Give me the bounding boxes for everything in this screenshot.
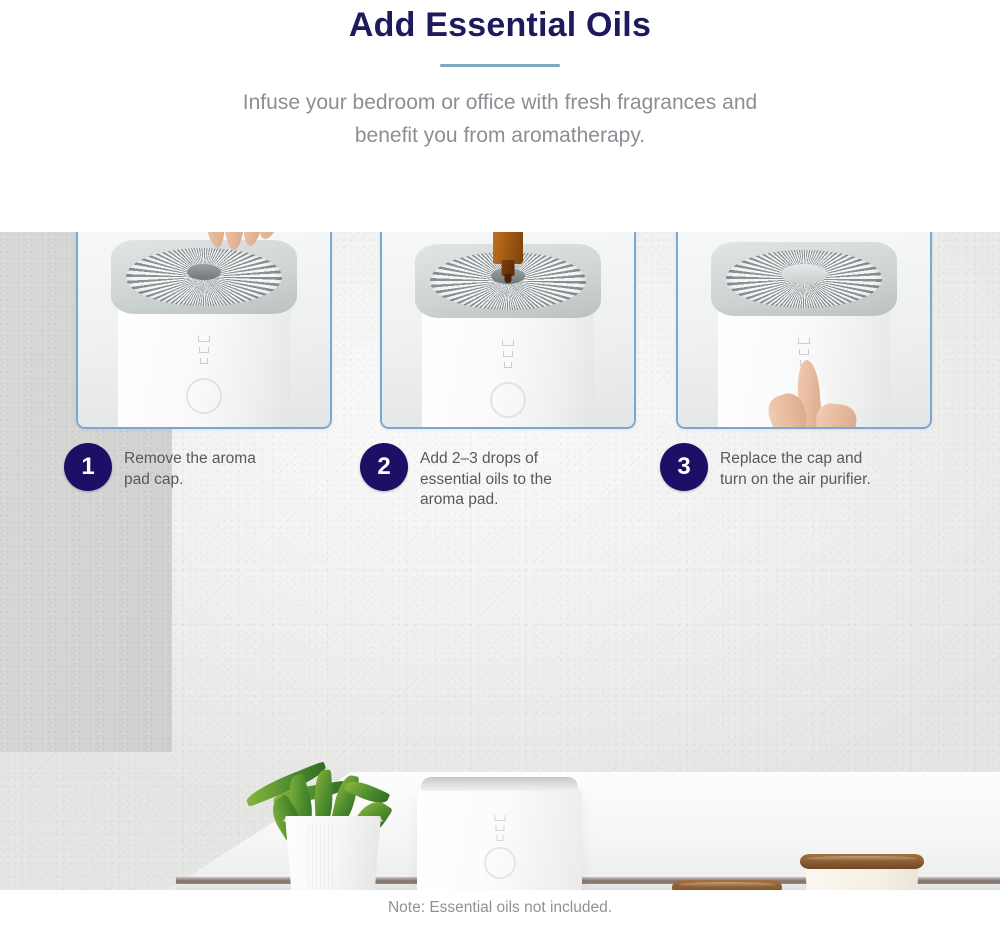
- page-title: Add Essential Oils: [0, 0, 1000, 45]
- step-2-power-button: [490, 382, 526, 418]
- ceramic-canister-cream: [800, 854, 924, 890]
- step-3-caption-text: Replace the cap and turn on the air puri…: [720, 443, 871, 490]
- step-3-fan-mark-1: [798, 338, 810, 344]
- step-3-hand: [762, 368, 882, 429]
- title-divider: [440, 64, 560, 67]
- subtitle-line-1: Infuse your bedroom or office with fresh…: [0, 87, 1000, 120]
- purifier-top-cap: [421, 777, 578, 791]
- infographic-page: levoit Add Essential Oils Infuse your be…: [0, 0, 1000, 925]
- step-3-caption: 3 Replace the cap and turn on the air pu…: [660, 443, 871, 491]
- air-purifier-hero: levoit: [417, 777, 582, 890]
- step-1-caption-text: Remove the aroma pad cap.: [124, 443, 256, 490]
- step-1-fan-mark-2: [199, 347, 209, 353]
- step-1-caption: 1 Remove the aroma pad cap.: [64, 443, 256, 491]
- step-3-aroma-pad-cap-closed: [781, 264, 827, 284]
- canister-cream-wooden-lid: [800, 854, 924, 869]
- fan-speed-mark-1: [494, 815, 505, 821]
- step-1-fan-mark-3: [200, 358, 208, 364]
- step-1-fan-indicators: [198, 336, 210, 364]
- footer-note: Note: Essential oils not included.: [388, 899, 612, 917]
- step-1-power-button: [186, 378, 222, 414]
- canister-grey-wooden-lid: [672, 880, 782, 890]
- step-2-fan-mark-3: [504, 362, 512, 368]
- ceramic-canister-grey: [672, 880, 782, 890]
- step-2-number-badge: 2: [360, 443, 408, 491]
- step-1-number-badge: 1: [64, 443, 112, 491]
- fan-speed-mark-3: [496, 835, 503, 841]
- step-2-caption: 2 Add 2–3 drops of essential oils to the…: [360, 443, 552, 511]
- step-2-fan-indicators: [502, 340, 514, 368]
- step-1-fan-mark-1: [198, 336, 210, 342]
- subtitle-line-2: benefit you from aromatherapy.: [0, 120, 1000, 153]
- step-3-top-cap: [711, 242, 897, 316]
- plant-pot-texture: [308, 824, 336, 890]
- fan-speed-indicators: [494, 815, 505, 841]
- header-block: Add Essential Oils Infuse your bedroom o…: [0, 0, 1000, 232]
- step-3-fan-mark-2: [799, 349, 809, 355]
- step-3-number-badge: 3: [660, 443, 708, 491]
- step-2-fan-mark-1: [502, 340, 514, 346]
- step-2-caption-text: Add 2–3 drops of essential oils to the a…: [420, 443, 552, 511]
- fan-speed-mark-2: [495, 825, 504, 831]
- step-captions: 1 Remove the aroma pad cap. 2 Add 2–3 dr…: [0, 443, 1000, 513]
- potted-plant: [268, 780, 398, 890]
- footer-note-bar: Note: Essential oils not included.: [0, 890, 1000, 925]
- step-2-fan-mark-2: [503, 351, 513, 357]
- step-1-brand-logo: levoit: [190, 428, 217, 429]
- power-button: [484, 847, 516, 879]
- title-divider-wrap: [0, 64, 1000, 67]
- page-subtitle: Infuse your bedroom or office with fresh…: [0, 87, 1000, 152]
